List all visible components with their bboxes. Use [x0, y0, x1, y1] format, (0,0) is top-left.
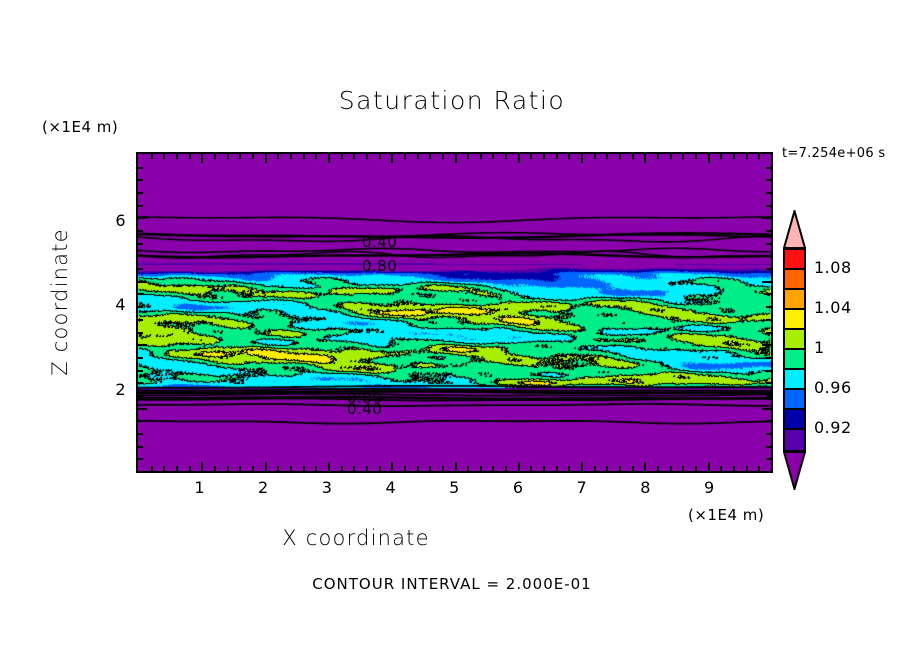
y-tick-mark-right [766, 458, 771, 460]
y-tick-mark [138, 243, 143, 245]
colorbar-label-0.96: 0.96 [814, 378, 852, 397]
x-tick-mark [201, 462, 203, 471]
x-tick-mark-top [429, 154, 431, 159]
y-tick-mark [138, 408, 147, 410]
colorbar-band-9 [785, 430, 804, 450]
y-tick-mark [138, 230, 143, 232]
x-tick-mark [341, 466, 343, 471]
y-tick-mark-right [766, 205, 771, 207]
x-tick-mark-top [505, 154, 507, 159]
x-tick-mark-top [391, 154, 393, 163]
colorbar-band-7 [785, 390, 804, 410]
y-tick-mark-right [762, 344, 771, 346]
x-tick-mark [568, 466, 570, 471]
y-tick-mark-right [766, 255, 771, 257]
x-tick-6: 6 [503, 478, 533, 497]
x-tick-mark-top [543, 154, 545, 159]
y-axis-unit-label: (×1E4 m) [42, 118, 118, 136]
y-tick-mark [138, 319, 143, 321]
y-tick-mark [138, 357, 143, 359]
x-tick-mark-top [657, 154, 659, 159]
x-tick-mark-top [227, 154, 229, 159]
colorbar-band-3 [785, 310, 804, 330]
x-tick-mark [670, 466, 672, 471]
x-tick-mark-top [341, 154, 343, 159]
time-stamp-label: t=7.254e+06 s [782, 146, 885, 161]
x-tick-mark-top [708, 154, 710, 163]
y-tick-mark [138, 293, 143, 295]
x-tick-mark-top [151, 154, 153, 159]
y-tick-mark-right [766, 192, 771, 194]
x-tick-mark [252, 466, 254, 471]
x-tick-mark [619, 466, 621, 471]
y-tick-mark-right [766, 319, 771, 321]
x-tick-mark [556, 466, 558, 471]
colorbar-band-0 [785, 250, 804, 270]
x-tick-mark [277, 466, 279, 471]
x-tick-mark [695, 466, 697, 471]
contour-interval-caption: CONTOUR INTERVAL = 2.000E-01 [0, 575, 904, 593]
contour-plot-area[interactable]: 0.400.800.800.40 [136, 152, 773, 473]
x-tick-mark-top [366, 154, 368, 159]
y-tick-mark-right [766, 230, 771, 232]
x-tick-mark-top [695, 154, 697, 159]
x-tick-mark-top [353, 154, 355, 159]
y-tick-mark-right [766, 446, 771, 448]
colorbar-label-0.92: 0.92 [814, 418, 852, 437]
colorbar-band-2 [785, 290, 804, 310]
colorbar-bottom-arrow [783, 451, 806, 490]
x-tick-mark [379, 466, 381, 471]
x-tick-mark [239, 466, 241, 471]
y-tick-mark-right [766, 370, 771, 372]
x-tick-mark-top [568, 154, 570, 159]
y-tick-mark-right [766, 420, 771, 422]
y-tick-mark [138, 332, 143, 334]
y-tick-2: 2 [104, 380, 126, 399]
x-tick-mark [708, 462, 710, 471]
x-tick-mark-top [670, 154, 672, 159]
x-tick-mark-top [619, 154, 621, 159]
x-tick-mark [682, 466, 684, 471]
y-tick-mark-right [766, 293, 771, 295]
x-tick-mark [644, 462, 646, 471]
x-tick-mark [265, 462, 267, 471]
x-tick-mark-top [632, 154, 634, 159]
x-tick-mark [366, 466, 368, 471]
page-title: Saturation Ratio [0, 86, 904, 115]
y-tick-mark [138, 167, 143, 169]
y-tick-mark [138, 370, 143, 372]
x-tick-mark-top [404, 154, 406, 159]
x-tick-mark-top [733, 154, 735, 159]
x-tick-mark-top [606, 154, 608, 159]
x-tick-mark [303, 466, 305, 471]
x-tick-mark-top [594, 154, 596, 159]
x-tick-mark-top [492, 154, 494, 159]
x-tick-mark [214, 466, 216, 471]
x-tick-8: 8 [631, 478, 661, 497]
x-tick-mark-top [214, 154, 216, 159]
x-tick-mark [467, 466, 469, 471]
x-tick-9: 9 [694, 478, 724, 497]
y-tick-mark [138, 344, 147, 346]
y-tick-mark-right [766, 167, 771, 169]
y-tick-mark [138, 306, 143, 308]
colorbar-band-6 [785, 370, 804, 390]
x-tick-mark-top [467, 154, 469, 159]
x-tick-mark-top [720, 154, 722, 159]
y-tick-mark-right [766, 357, 771, 359]
x-tick-mark [227, 466, 229, 471]
y-tick-4: 4 [104, 295, 126, 314]
x-tick-mark-top [682, 154, 684, 159]
x-tick-mark-top [530, 154, 532, 159]
x-tick-mark [758, 466, 760, 471]
y-tick-mark-right [762, 217, 771, 219]
x-tick-3: 3 [312, 478, 342, 497]
x-tick-mark [505, 466, 507, 471]
y-tick-mark-right [766, 306, 771, 308]
x-tick-mark [417, 466, 419, 471]
colorbar[interactable] [783, 248, 806, 452]
colorbar-band-8 [785, 410, 804, 430]
y-tick-6: 6 [104, 211, 126, 230]
x-tick-mark [455, 462, 457, 471]
y-tick-mark-right [766, 382, 771, 384]
x-tick-mark [606, 466, 608, 471]
x-tick-mark-top [328, 154, 330, 163]
colorbar-band-5 [785, 350, 804, 370]
y-tick-mark [138, 255, 143, 257]
x-tick-mark [353, 466, 355, 471]
y-tick-mark [138, 382, 143, 384]
x-tick-mark [492, 466, 494, 471]
x-tick-mark [530, 466, 532, 471]
y-tick-mark-right [766, 243, 771, 245]
x-tick-mark [163, 466, 165, 471]
x-tick-mark [429, 466, 431, 471]
y-tick-mark [138, 205, 143, 207]
y-tick-mark [138, 420, 143, 422]
x-tick-mark-top [290, 154, 292, 159]
x-tick-4: 4 [376, 478, 406, 497]
colorbar-label-1.08: 1.08 [814, 258, 852, 277]
colorbar-label-1.04: 1.04 [814, 298, 852, 317]
y-tick-mark-right [766, 179, 771, 181]
x-tick-mark-top [758, 154, 760, 159]
y-tick-mark-right [766, 433, 771, 435]
x-tick-mark-top [644, 154, 646, 163]
x-tick-mark-top [303, 154, 305, 159]
x-tick-mark-top [746, 154, 748, 159]
colorbar-band-1 [785, 270, 804, 290]
y-tick-mark [138, 179, 143, 181]
y-tick-mark-right [766, 268, 771, 270]
x-tick-mark [733, 466, 735, 471]
y-tick-mark [138, 217, 147, 219]
x-tick-mark [720, 466, 722, 471]
y-tick-mark-right [766, 395, 771, 397]
y-tick-mark [138, 268, 143, 270]
x-tick-mark [328, 462, 330, 471]
x-tick-2: 2 [248, 478, 278, 497]
x-tick-mark-top [480, 154, 482, 159]
x-tick-7: 7 [567, 478, 597, 497]
x-tick-mark-top [176, 154, 178, 159]
x-tick-mark [518, 462, 520, 471]
y-tick-mark-right [762, 281, 771, 283]
x-tick-mark [657, 466, 659, 471]
contour-label-0: 0.40 [362, 233, 397, 251]
y-tick-mark-right [762, 408, 771, 410]
x-tick-mark [189, 466, 191, 471]
x-tick-mark [176, 466, 178, 471]
y-tick-mark [138, 281, 147, 283]
y-tick-mark [138, 192, 143, 194]
x-tick-mark [151, 466, 153, 471]
x-tick-1: 1 [185, 478, 215, 497]
x-tick-mark-top [417, 154, 419, 159]
x-tick-mark-top [581, 154, 583, 163]
x-tick-mark-top [556, 154, 558, 159]
y-tick-mark [138, 446, 143, 448]
contour-label-3: 0.40 [347, 400, 382, 418]
x-axis-unit-label: (×1E4 m) [688, 506, 764, 524]
x-tick-mark-top [379, 154, 381, 159]
y-tick-mark [138, 395, 143, 397]
x-tick-mark-top [239, 154, 241, 159]
x-tick-mark-top [252, 154, 254, 159]
x-tick-mark-top [315, 154, 317, 159]
colorbar-label-1: 1 [814, 338, 825, 357]
x-tick-5: 5 [440, 478, 470, 497]
x-tick-mark [480, 466, 482, 471]
contour-field [138, 154, 771, 471]
x-tick-mark [594, 466, 596, 471]
x-tick-mark-top [163, 154, 165, 159]
x-tick-mark [442, 466, 444, 471]
x-tick-mark-top [189, 154, 191, 159]
x-tick-mark [391, 462, 393, 471]
y-tick-mark [138, 458, 143, 460]
x-tick-mark [404, 466, 406, 471]
contour-label-1: 0.80 [362, 257, 397, 275]
x-tick-mark-top [265, 154, 267, 163]
x-tick-mark [581, 462, 583, 471]
x-tick-mark-top [442, 154, 444, 159]
colorbar-band-4 [785, 330, 804, 350]
x-tick-mark-top [455, 154, 457, 163]
x-tick-mark [543, 466, 545, 471]
y-tick-mark [138, 433, 143, 435]
x-tick-mark [746, 466, 748, 471]
x-axis-title: X coordinate [0, 526, 712, 550]
y-tick-mark-right [766, 332, 771, 334]
y-axis-title: Z coordinate [48, 202, 72, 402]
x-tick-mark [290, 466, 292, 471]
x-tick-mark [632, 466, 634, 471]
x-tick-mark-top [201, 154, 203, 163]
x-tick-mark [315, 466, 317, 471]
x-tick-mark-top [518, 154, 520, 163]
x-tick-mark-top [277, 154, 279, 159]
colorbar-top-arrow [783, 210, 806, 249]
